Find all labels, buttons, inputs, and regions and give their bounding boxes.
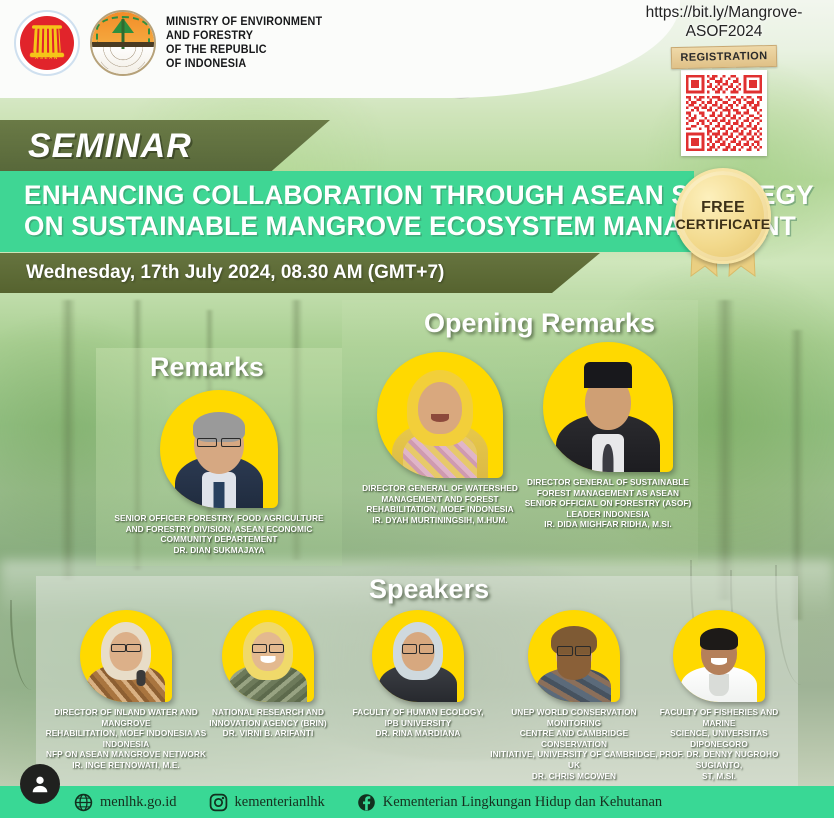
portrait-beard — [557, 654, 591, 680]
tree-trunk-decoration — [715, 300, 735, 600]
portrait-face — [418, 382, 462, 434]
person-card-speaker-3: FACULTY OF HUMAN ECOLOGY, IPB UNIVERSITY… — [338, 610, 498, 739]
person-caption: UNEP WORLD CONSERVATION MONITORING CENTR… — [488, 707, 660, 781]
portrait-smile — [711, 658, 727, 665]
seminar-kicker-text: SEMINAR — [28, 127, 192, 166]
person-caption: DIRECTOR GENERAL OF SUSTAINABLE FOREST M… — [518, 477, 698, 530]
avatar[interactable] — [20, 764, 60, 804]
person-caption: DIRECTOR GENERAL OF WATERSHED MANAGEMENT… — [352, 483, 528, 525]
portrait-peci-hat — [584, 362, 632, 388]
free-certificate-badge: FREE CERTIFICATE — [675, 168, 771, 264]
registration-label: REGISTRATION — [680, 50, 767, 64]
seminar-title-line-2: ON SUSTAINABLE MANGROVE ECOSYSTEM MANAGE… — [24, 211, 687, 242]
footer-instagram-text: kementerianlhk — [235, 794, 325, 811]
qr-code[interactable] — [681, 70, 767, 156]
portrait-microphone — [136, 670, 145, 686]
seminar-kicker-ribbon: SEMINAR — [0, 120, 330, 172]
ministry-line: MINISTRY OF ENVIRONMENT — [166, 15, 322, 29]
facebook-icon — [357, 793, 376, 812]
footer-facebook-text: Kementerian Lingkungan Hidup dan Kehutan… — [383, 794, 662, 811]
person-card-speaker-5: FACULTY OF FISHERIES AND MARINE SCIENCE,… — [644, 610, 794, 781]
person-card-opening-2: DIRECTOR GENERAL OF SUSTAINABLE FOREST M… — [518, 342, 698, 530]
globe-icon — [74, 793, 93, 812]
ministry-name: MINISTRY OF ENVIRONMENT AND FORESTRY OF … — [166, 15, 322, 71]
person-caption: FACULTY OF HUMAN ECOLOGY, IPB UNIVERSITY… — [338, 707, 498, 739]
person-card-speaker-4: UNEP WORLD CONSERVATION MONITORING CENTR… — [488, 610, 660, 781]
badge-line-1: FREE — [701, 199, 745, 217]
portrait-tie — [603, 444, 614, 472]
portrait-rina-mardiana — [372, 610, 464, 702]
tree-trunk-decoration — [60, 300, 76, 580]
seminar-title-line-1: ENHANCING COLLABORATION THROUGH ASEAN ST… — [24, 180, 687, 211]
footer-bar: menlhk.go.id kementerianlhk Kementerian … — [0, 786, 834, 818]
portrait-smile — [431, 414, 449, 422]
portrait-dyah-murtiningsih — [377, 352, 503, 478]
badge-face: FREE CERTIFICATE — [675, 168, 771, 264]
ministry-line: AND FORESTRY — [166, 29, 322, 43]
portrait-smile — [261, 656, 276, 663]
person-card-opening-1: DIRECTOR GENERAL OF WATERSHED MANAGEMENT… — [352, 352, 528, 525]
ministry-line: OF INDONESIA — [166, 57, 322, 71]
footer-item-website[interactable]: menlhk.go.id — [74, 793, 177, 812]
portrait-glasses — [402, 644, 434, 652]
asean-logo-icon: ASEAN — [14, 10, 80, 76]
moef-logo-icon — [90, 10, 156, 76]
portrait-dida-mighfar-ridha — [543, 342, 673, 472]
portrait-chris-mcowen — [528, 610, 620, 702]
portrait-collar — [709, 674, 729, 696]
footer-item-facebook[interactable]: Kementerian Lingkungan Hidup dan Kehutan… — [357, 793, 662, 812]
speakers-heading: Speakers — [369, 574, 489, 605]
portrait-denny-nugroho-sugianto — [673, 610, 765, 702]
logo-group: ASEAN MINISTRY OF ENVIRONMENT AND FOREST… — [14, 10, 332, 76]
registration-block: https://bit.ly/Mangrove-ASOF2024 REGISTR… — [626, 4, 822, 156]
ministry-line: OF THE REPUBLIC — [166, 43, 322, 57]
portrait-hair — [700, 628, 738, 650]
portrait-glasses — [197, 438, 241, 445]
portrait-glasses — [557, 646, 591, 654]
badge-line-2: CERTIFICATE — [676, 217, 771, 233]
portrait-tie — [214, 482, 225, 508]
seminar-poster: ASEAN MINISTRY OF ENVIRONMENT AND FOREST… — [0, 0, 834, 818]
remarks-heading: Remarks — [150, 352, 264, 383]
footer-item-instagram[interactable]: kementerianlhk — [209, 793, 325, 812]
seminar-date-text: Wednesday, 17th July 2024, 08.30 AM (GMT… — [26, 262, 444, 284]
footer-website-text: menlhk.go.id — [100, 794, 177, 811]
registration-url[interactable]: https://bit.ly/Mangrove-ASOF2024 — [626, 4, 822, 42]
person-icon — [29, 773, 51, 795]
person-caption: SENIOR OFFICER FORESTRY, FOOD AGRICULTUR… — [110, 513, 328, 555]
opening-remarks-heading: Opening Remarks — [424, 308, 655, 339]
person-card-remarks: SENIOR OFFICER FORESTRY, FOOD AGRICULTUR… — [110, 390, 328, 555]
portrait-inge-retnowati — [80, 610, 172, 702]
person-card-speaker-2: NATIONAL RESEARCH AND INNOVATION AGENCY … — [190, 610, 346, 739]
instagram-icon — [209, 793, 228, 812]
seminar-date-band: Wednesday, 17th July 2024, 08.30 AM (GMT… — [0, 253, 600, 293]
portrait-dian-sukmajaya — [160, 390, 278, 508]
person-card-speaker-1: DIRECTOR OF INLAND WATER AND MANGROVE RE… — [40, 610, 212, 771]
person-caption: FACULTY OF FISHERIES AND MARINE SCIENCE,… — [644, 707, 794, 781]
seminar-title-band: ENHANCING COLLABORATION THROUGH ASEAN ST… — [0, 171, 694, 252]
registration-ribbon: REGISTRATION — [671, 45, 777, 69]
portrait-glasses — [111, 644, 141, 650]
portrait-virni-arifanti — [222, 610, 314, 702]
portrait-glasses — [252, 644, 284, 651]
person-caption: NATIONAL RESEARCH AND INNOVATION AGENCY … — [190, 707, 346, 739]
person-caption: DIRECTOR OF INLAND WATER AND MANGROVE RE… — [40, 707, 212, 771]
